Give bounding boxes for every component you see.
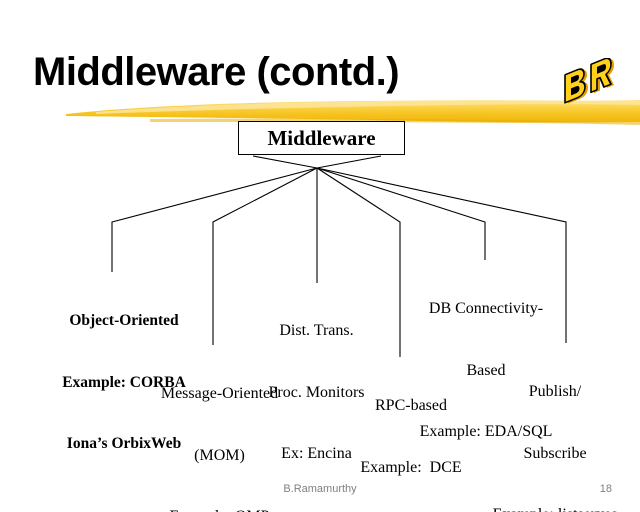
node-middleware-root-label: Middleware [267,128,375,149]
footer-author: B.Ramamurthy [0,483,640,495]
node-line: Dist. Trans. [249,321,384,342]
node-line: DB Connectivity- [400,299,572,320]
node-line: Example: QMP [137,507,302,512]
footer-page-number: 18 [600,483,612,495]
br-logo-icon [562,58,614,116]
node-line: Example: listserves [471,505,639,512]
node-line: Subscribe [471,444,639,465]
slide-canvas: Middleware (contd.) [0,0,640,512]
node-line: Publish/ [471,382,639,403]
node-line: Object-Oriented [44,311,204,332]
node-middleware-root[interactable]: Middleware [238,121,405,155]
slide-title: Middleware (contd.) [33,50,399,94]
